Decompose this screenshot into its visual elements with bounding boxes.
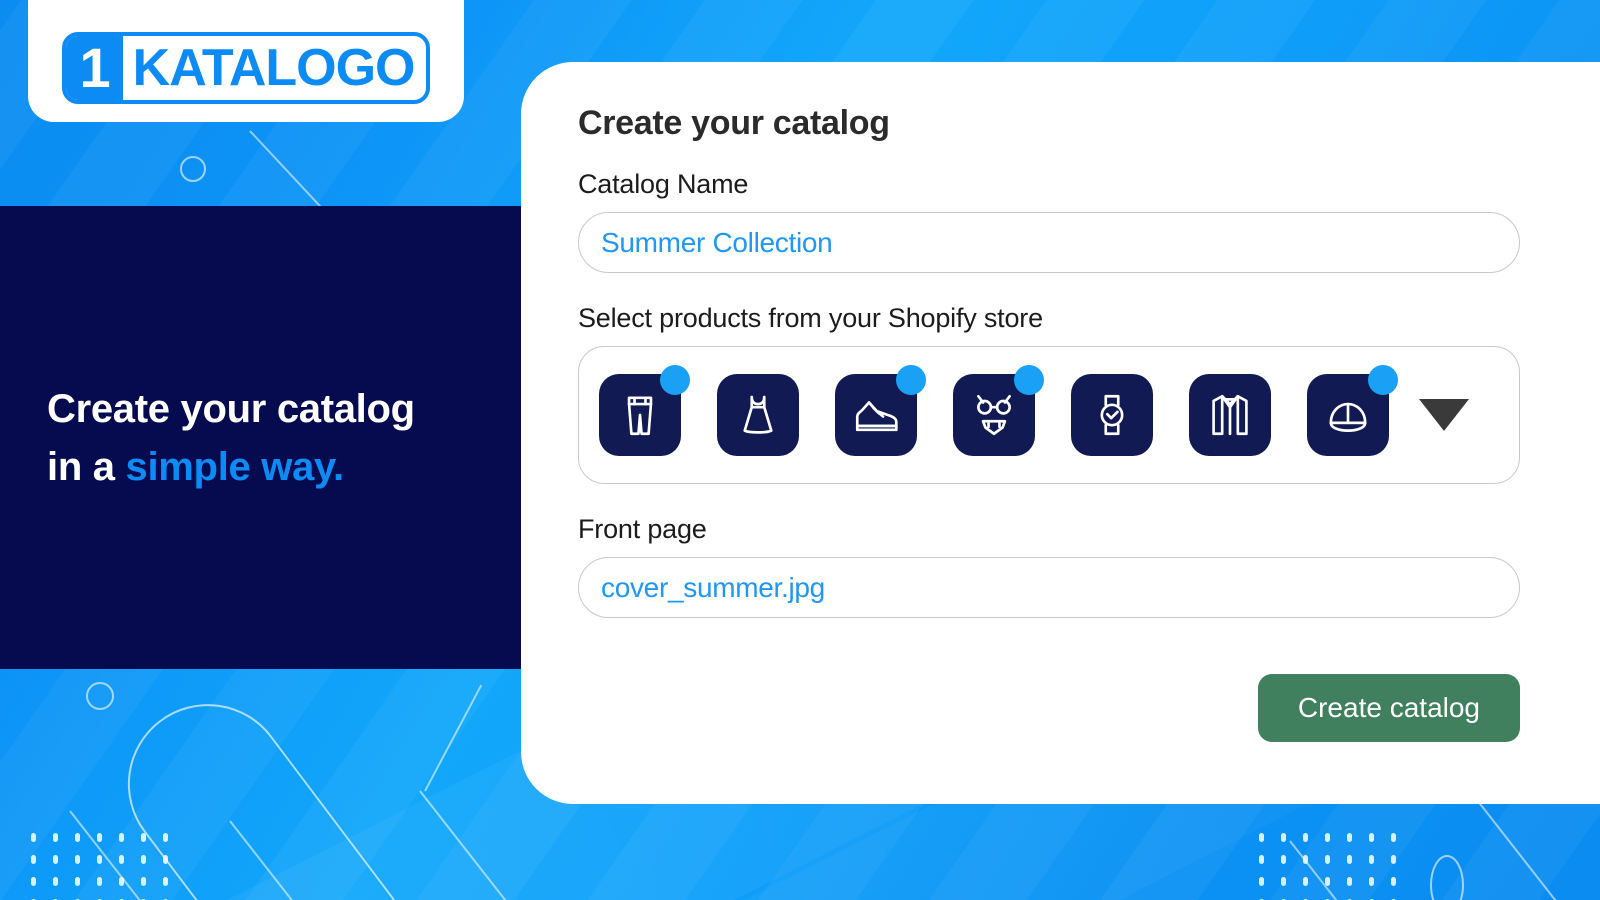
brand-logo[interactable]: 1 KATALOGO bbox=[28, 0, 464, 122]
chevron-down-icon[interactable] bbox=[1419, 399, 1469, 431]
product-tile-dress[interactable] bbox=[717, 374, 799, 456]
product-tile-cap[interactable] bbox=[1307, 374, 1389, 456]
catalog-name-label: Catalog Name bbox=[578, 169, 1520, 200]
front-page-input[interactable]: cover_summer.jpg bbox=[578, 557, 1520, 618]
pants-icon bbox=[615, 390, 665, 440]
decor-circle bbox=[86, 682, 114, 710]
sneaker-icon bbox=[851, 390, 901, 440]
product-tile-watch[interactable] bbox=[1071, 374, 1153, 456]
product-tile-list bbox=[599, 374, 1389, 456]
logo-frame: 1 KATALOGO bbox=[62, 32, 431, 104]
logo-numeral: 1 bbox=[66, 36, 123, 100]
front-page-label: Front page bbox=[578, 514, 1520, 545]
decor-circle bbox=[180, 156, 206, 182]
hero-panel: Create your catalog in a simple way. bbox=[0, 206, 521, 669]
selected-badge bbox=[1014, 365, 1044, 395]
catalog-form-card: Create your catalog Catalog Name Summer … bbox=[521, 62, 1600, 804]
form-actions: Create catalog bbox=[578, 674, 1520, 742]
decor-dot-grid bbox=[1250, 826, 1404, 900]
product-tile-sneaker[interactable] bbox=[835, 374, 917, 456]
hero-line-2-plain: in a bbox=[47, 445, 126, 489]
selected-badge bbox=[1368, 365, 1398, 395]
product-tile-suit[interactable] bbox=[1189, 374, 1271, 456]
selected-badge bbox=[660, 365, 690, 395]
hero-line-1: Create your catalog bbox=[47, 380, 415, 438]
hero-line-2: in a simple way. bbox=[47, 438, 415, 496]
create-catalog-button[interactable]: Create catalog bbox=[1258, 674, 1520, 742]
page-title: Create your catalog bbox=[578, 104, 1520, 143]
dress-icon bbox=[733, 390, 783, 440]
product-tile-swimwear[interactable] bbox=[953, 374, 1035, 456]
catalog-name-value: Summer Collection bbox=[601, 227, 832, 259]
hero-line-2-highlight: simple way. bbox=[126, 445, 344, 489]
logo-wordmark: KATALOGO bbox=[123, 36, 427, 100]
selected-badge bbox=[896, 365, 926, 395]
decor-dot-grid bbox=[22, 826, 176, 900]
product-select-label: Select products from your Shopify store bbox=[578, 303, 1520, 334]
cap-icon bbox=[1323, 390, 1373, 440]
suit-icon bbox=[1205, 390, 1255, 440]
bikini-icon bbox=[969, 390, 1019, 440]
catalog-name-input[interactable]: Summer Collection bbox=[578, 212, 1520, 273]
hero-tagline: Create your catalog in a simple way. bbox=[0, 380, 415, 496]
product-tile-pants[interactable] bbox=[599, 374, 681, 456]
product-select-strip[interactable] bbox=[578, 346, 1520, 484]
watch-icon bbox=[1087, 390, 1137, 440]
front-page-value: cover_summer.jpg bbox=[601, 572, 825, 604]
